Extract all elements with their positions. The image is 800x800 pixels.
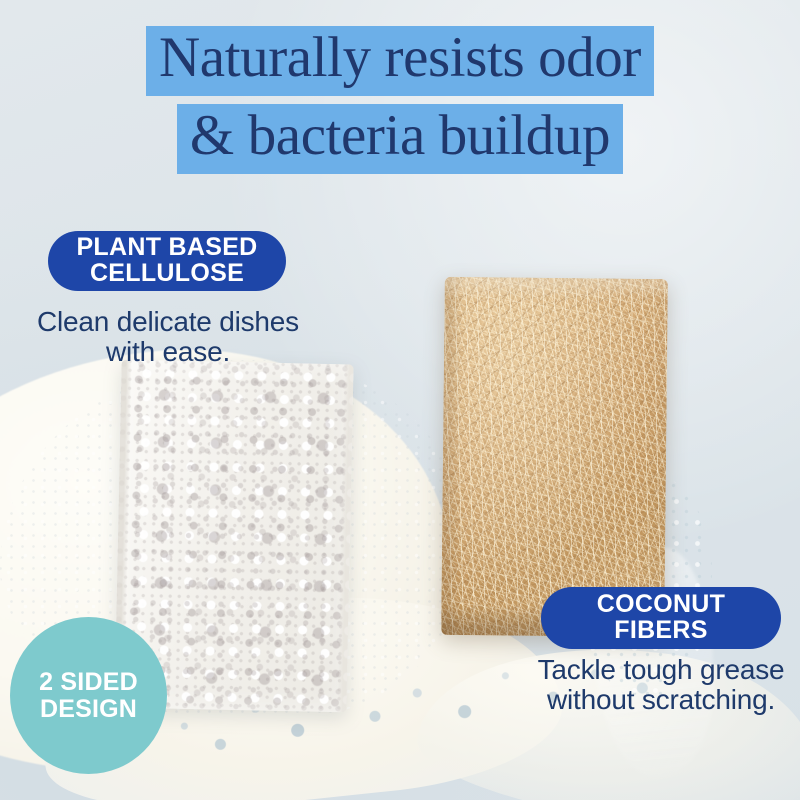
product-feature-graphic: Naturally resists odor & bacteria buildu…: [0, 0, 800, 800]
coconut-fiber-sponge-image: [441, 277, 668, 637]
headline-line-2: & bacteria buildup: [0, 104, 800, 174]
headline-line-1-text: Naturally resists odor: [146, 26, 654, 96]
headline-line-1: Naturally resists odor: [0, 26, 800, 96]
badge-plant-based-cellulose-line-1: PLANT BASED: [76, 235, 257, 261]
headline: Naturally resists odor & bacteria buildu…: [0, 26, 800, 174]
badge-plant-based-cellulose-line-2: CELLULOSE: [76, 261, 257, 287]
badge-plant-based-cellulose: PLANT BASED CELLULOSE: [48, 231, 286, 291]
badge-coconut-fibers: COCONUT FIBERS: [541, 587, 781, 649]
coconut-edge-shading: [441, 277, 668, 637]
caption-coconut-fibers: Tackle tough grease without scratching.: [530, 655, 792, 715]
badge-two-sided-design: 2 SIDED DESIGN: [10, 617, 167, 774]
headline-line-2-text: & bacteria buildup: [177, 104, 623, 174]
badge-two-sided-design-line-2: DESIGN: [40, 696, 137, 723]
badge-coconut-fibers-line-2: FIBERS: [597, 618, 725, 644]
badge-two-sided-design-line-1: 2 SIDED: [39, 669, 138, 696]
badge-coconut-fibers-line-1: COCONUT: [597, 592, 725, 618]
caption-plant-based-cellulose: Clean delicate dishes with ease.: [32, 307, 304, 367]
